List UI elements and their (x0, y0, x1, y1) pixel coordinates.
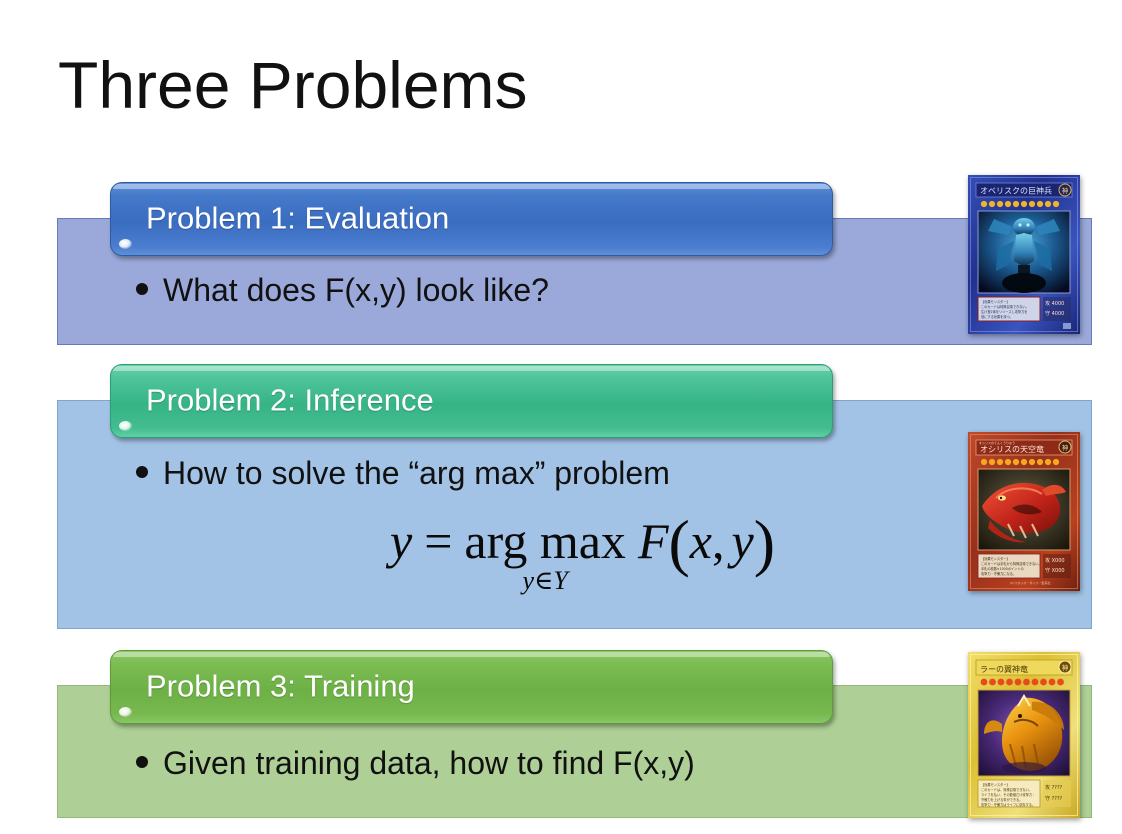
equation-open-paren: ( (668, 518, 689, 568)
svg-text:【効果モンスター】: 【効果モンスター】 (981, 299, 1010, 304)
svg-text:オベリスクの巨神兵: オベリスクの巨神兵 (980, 186, 1052, 196)
problem-2-bullet-text: How to solve the “arg max” problem (163, 455, 670, 492)
svg-text:攻撃力・守備力はライフに依存する。: 攻撃力・守備力はライフに依存する。 (981, 802, 1035, 807)
slide-canvas: Three Problems Problem 1: Evaluation Wha… (0, 0, 1122, 834)
svg-text:【効果モンスター】: 【効果モンスター】 (981, 556, 1010, 561)
banner-gloss-dot (119, 239, 132, 249)
svg-text:神: 神 (1062, 663, 1069, 672)
svg-text:このカードは特殊召喚できない。: このカードは特殊召喚できない。 (981, 304, 1029, 309)
argmax-equation: y = arg max y∈Y F ( x , y ) (390, 512, 775, 594)
banner-gloss-dot (119, 421, 132, 431)
svg-text:守 ????: 守 ???? (1045, 795, 1063, 802)
svg-text:(C)スタジオ・ダイス／集英社: (C)スタジオ・ダイス／集英社 (1010, 580, 1050, 585)
equation-arg2: y (732, 512, 754, 570)
equation-equals: = (424, 512, 452, 570)
equation-lhs: y (390, 512, 412, 570)
svg-text:このカードは手札から特殊召喚できない。: このカードは手札から特殊召喚できない。 (981, 561, 1042, 566)
problem-2-bullet: How to solve the “arg max” problem (136, 455, 670, 492)
svg-text:【効果モンスター】: 【効果モンスター】 (981, 782, 1010, 787)
banner-sheen (113, 184, 830, 189)
equation-subscript: y∈Y (523, 568, 568, 594)
equation-operator: arg max (464, 516, 626, 566)
obelisk-the-tormentor-card: オベリスクの巨神兵 神 (968, 175, 1080, 334)
svg-text:守備力を上げる事ができる。: 守備力を上げる事ができる。 (981, 797, 1022, 802)
svg-text:守 4000: 守 4000 (1045, 310, 1064, 317)
ra-card-art: ラーの翼神竜 神 (968, 652, 1080, 818)
equation-arg1: x (690, 512, 712, 570)
svg-text:このカードは、特殊召喚できない。: このカードは、特殊召喚できない。 (981, 787, 1032, 792)
problem-1-banner[interactable]: Problem 1: Evaluation (110, 182, 833, 256)
equation-argmax: arg max y∈Y (464, 516, 626, 594)
problem-3-bullet: Given training data, how to find F(x,y) (136, 745, 695, 782)
banner-sheen (113, 652, 830, 657)
winged-dragon-of-ra-card: ラーの翼神竜 神 (968, 652, 1080, 818)
equation-comma: , (712, 512, 725, 570)
svg-text:神: 神 (1062, 186, 1069, 195)
banner-sheen (113, 366, 830, 371)
equation-function-name: F (638, 512, 669, 570)
bullet-dot-icon (136, 466, 148, 478)
svg-text:守 X000: 守 X000 (1045, 567, 1065, 574)
svg-text:攻撃力・守備力になる。: 攻撃力・守備力になる。 (981, 571, 1016, 576)
problem-1-bullet-text: What does F(x,y) look like? (163, 272, 549, 309)
obelisk-card-art: オベリスクの巨神兵 神 (968, 175, 1080, 334)
bullet-dot-icon (136, 756, 148, 768)
problem-1-bullet: What does F(x,y) look like? (136, 272, 549, 309)
svg-text:ラーの翼神竜: ラーの翼神竜 (980, 664, 1028, 674)
svg-text:攻 4000: 攻 4000 (1045, 300, 1064, 307)
slifer-card-art: オシリスのてんくうりゅう オシリスの天空竜 神 (968, 432, 1080, 591)
problem-1-banner-label: Problem 1: Evaluation (146, 200, 449, 236)
banner-gloss-dot (119, 707, 132, 717)
svg-text:生け贄2体をリリースし攻撃力を: 生け贄2体をリリースし攻撃力を (981, 309, 1028, 314)
svg-text:オシリスの天空竜: オシリスの天空竜 (980, 444, 1044, 454)
equation-close-paren: ) (754, 518, 775, 568)
svg-text:攻 ????: 攻 ???? (1045, 784, 1063, 791)
svg-text:ライフを払い、その数値だけ攻撃力・: ライフを払い、その数値だけ攻撃力・ (981, 792, 1035, 797)
svg-text:攻 X000: 攻 X000 (1045, 557, 1065, 564)
problem-3-bullet-text: Given training data, how to find F(x,y) (163, 745, 695, 782)
problem-3-banner[interactable]: Problem 3: Training (110, 650, 833, 724)
problem-3-banner-label: Problem 3: Training (146, 668, 415, 704)
problem-2-banner[interactable]: Problem 2: Inference (110, 364, 833, 438)
slifer-the-sky-dragon-card: オシリスのてんくうりゅう オシリスの天空竜 神 (968, 432, 1080, 591)
svg-text:手札の枚数×1000ポイントの: 手札の枚数×1000ポイントの (981, 566, 1024, 571)
svg-text:神: 神 (1062, 443, 1069, 452)
bullet-dot-icon (136, 283, 148, 295)
problem-2-banner-label: Problem 2: Inference (146, 382, 434, 418)
page-title: Three Problems (58, 52, 528, 118)
svg-text:倍にする効果を持つ。: 倍にする効果を持つ。 (981, 314, 1013, 319)
